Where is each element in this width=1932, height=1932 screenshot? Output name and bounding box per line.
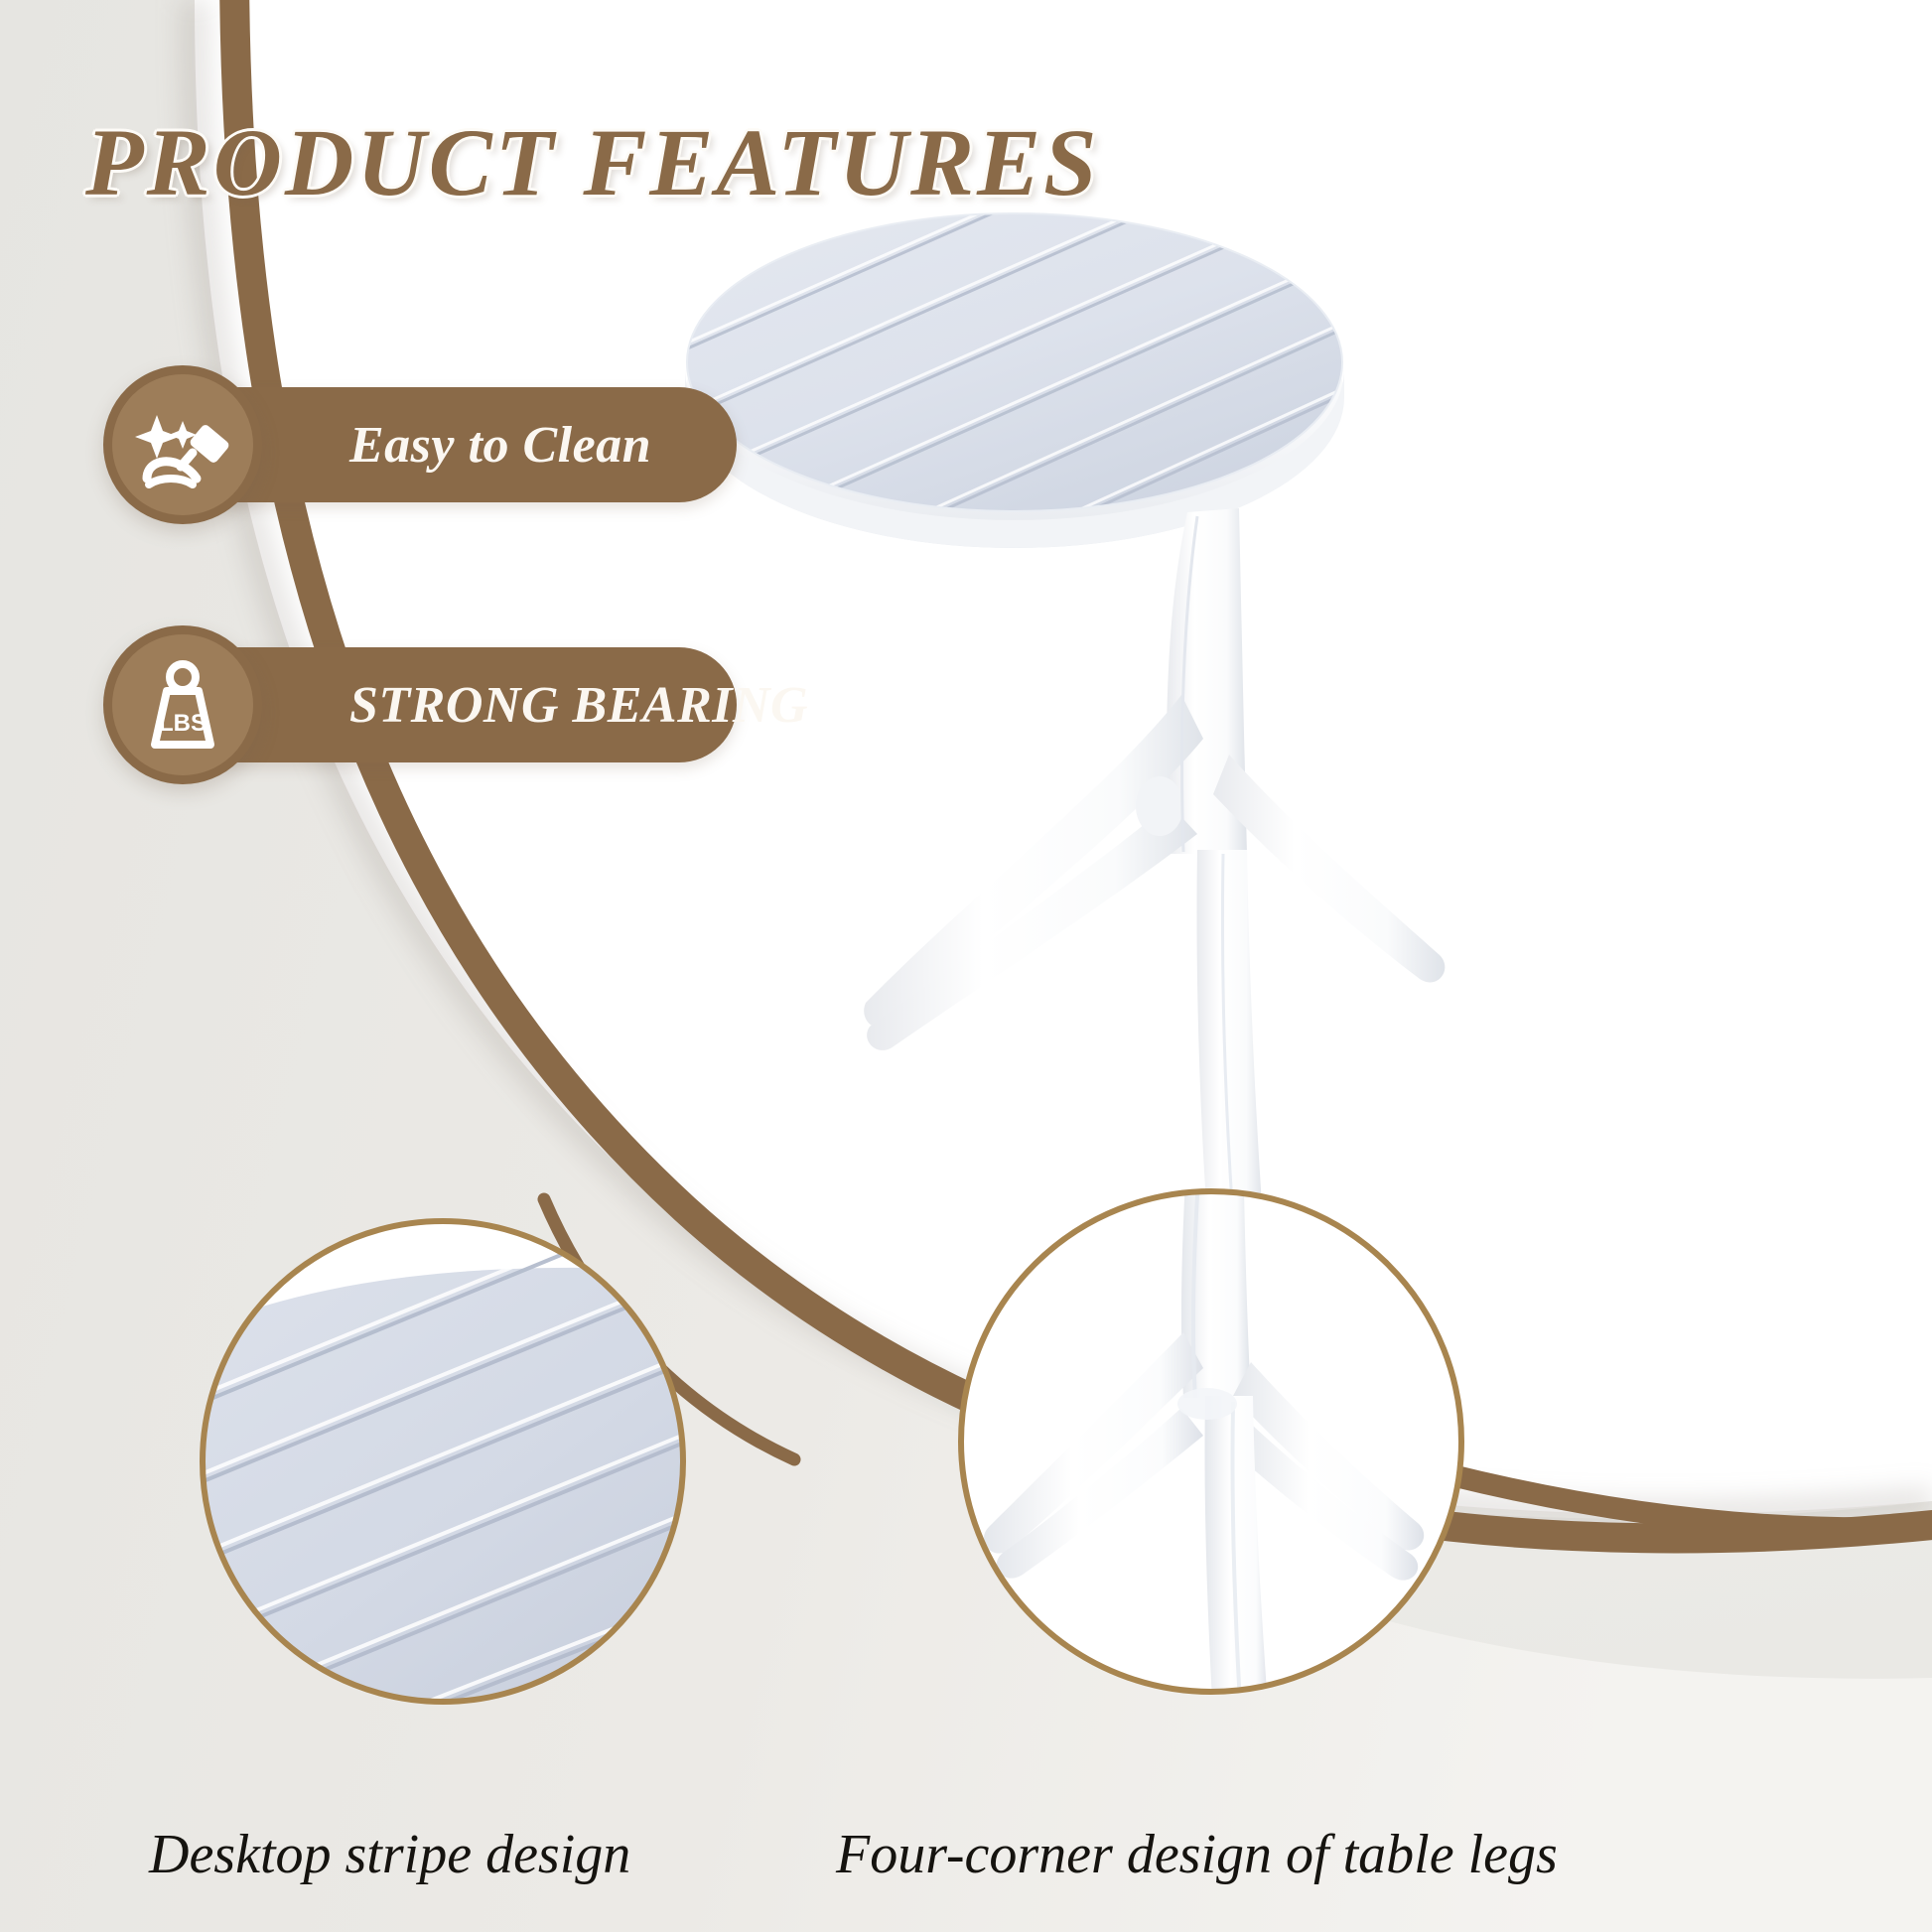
- lbs-weight-icon: LBS: [131, 653, 234, 757]
- feature-label: STRONG BEARING: [181, 676, 860, 735]
- caption-table-legs: Four-corner design of table legs: [836, 1823, 1558, 1886]
- detail-legs-closeup: [953, 1183, 1469, 1700]
- detail-slat-closeup: [195, 1213, 691, 1710]
- page-title: PRODUCT FEATURES: [85, 107, 1100, 217]
- table-pedestal: [864, 508, 1445, 1219]
- detail-circle-desktop-stripe: [195, 1213, 691, 1710]
- feature-pill[interactable]: STRONG BEARING: [181, 647, 737, 762]
- feature-pill[interactable]: Easy to Clean: [181, 387, 737, 502]
- product-feature-infographic: PRODUCT FEATURES Easy to Clean: [0, 0, 1932, 1932]
- caption-desktop-stripe: Desktop stripe design: [149, 1823, 630, 1886]
- detail-circle-table-legs: [953, 1183, 1469, 1700]
- svg-text:LBS: LBS: [159, 710, 207, 737]
- leg-joint-nub: [1136, 776, 1183, 836]
- tabletop-surface: [687, 213, 1342, 511]
- feature-badge: [103, 365, 262, 524]
- sparkle-wipe-icon: [131, 393, 234, 496]
- feature-badge: LBS: [103, 625, 262, 784]
- table-leg-left: [867, 804, 1197, 1050]
